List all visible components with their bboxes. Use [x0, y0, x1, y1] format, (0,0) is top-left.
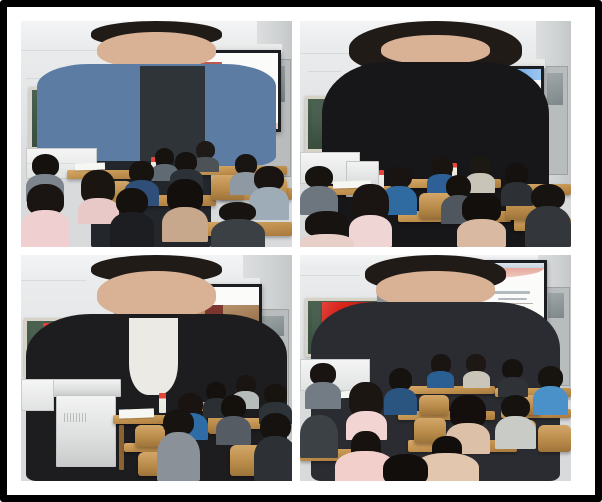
student-figure [305, 363, 340, 408]
student-figure [216, 395, 251, 445]
student-shoulders [463, 371, 490, 389]
student-figure [463, 354, 490, 388]
student-figure [498, 359, 528, 397]
door-glass [548, 293, 564, 318]
student-figure [349, 184, 392, 247]
photo-bottom-right[interactable]: ★ [300, 255, 571, 481]
wall-seam [21, 280, 86, 281]
photo-bottom-left[interactable]: ★ [21, 255, 292, 481]
slide-list-text [498, 298, 528, 300]
student-shoulders [110, 212, 153, 247]
student-shoulders [21, 210, 70, 247]
student-figure [211, 202, 265, 247]
student-figure [300, 404, 338, 458]
student-figure [254, 413, 292, 481]
wall-seam [300, 275, 360, 276]
student-shoulders [254, 436, 292, 481]
presenter-head [381, 35, 489, 64]
wall-cabinet [21, 379, 54, 411]
student-figure [495, 395, 536, 449]
student-shoulders [300, 415, 338, 458]
photo-top-right[interactable]: ★ [300, 21, 571, 247]
student-shoulders [533, 386, 568, 416]
lectern-vent [64, 413, 86, 422]
student-shoulders [427, 371, 454, 388]
chair-back [538, 425, 571, 452]
student-shoulders [349, 215, 392, 247]
classroom-scene: ★ [300, 21, 571, 247]
student-figure [21, 184, 70, 247]
student-figure [370, 454, 440, 481]
student-figure [110, 188, 153, 247]
student-figure [533, 366, 568, 416]
classroom-scene: ★ [300, 255, 571, 481]
lectern-body [56, 395, 116, 467]
collage-frame: ★ [0, 0, 602, 502]
student-shoulders [300, 234, 354, 247]
door-glass [547, 73, 563, 105]
student-shoulders [162, 207, 208, 242]
chair-back [419, 395, 449, 415]
classroom-scene: ★ [21, 21, 292, 247]
student-shoulders [216, 416, 251, 445]
presenter-shirt [129, 318, 178, 395]
student-figure [457, 193, 506, 247]
papers-on-desk [118, 408, 154, 418]
student-figure [300, 166, 338, 216]
student-shoulders [495, 416, 536, 450]
student-figure [525, 184, 571, 247]
student-figure [300, 211, 354, 247]
classroom-scene: ★ [21, 255, 292, 481]
student-hair [383, 454, 428, 481]
student-figure [157, 409, 200, 481]
presenter-head [97, 271, 216, 318]
wall-seam [21, 50, 102, 51]
photo-top-left[interactable]: ★ [21, 21, 292, 247]
student-shoulders [525, 206, 571, 246]
student-figure [427, 354, 454, 388]
student-shoulders [157, 432, 200, 481]
photo-grid: ★ [21, 21, 581, 481]
wall-seam [308, 71, 341, 72]
student-shoulders [384, 388, 417, 416]
student-shoulders [457, 219, 506, 247]
student-hair [305, 211, 348, 237]
student-shoulders [211, 219, 265, 247]
student-head [502, 359, 523, 379]
student-figure [162, 179, 208, 242]
student-figure [384, 368, 417, 415]
